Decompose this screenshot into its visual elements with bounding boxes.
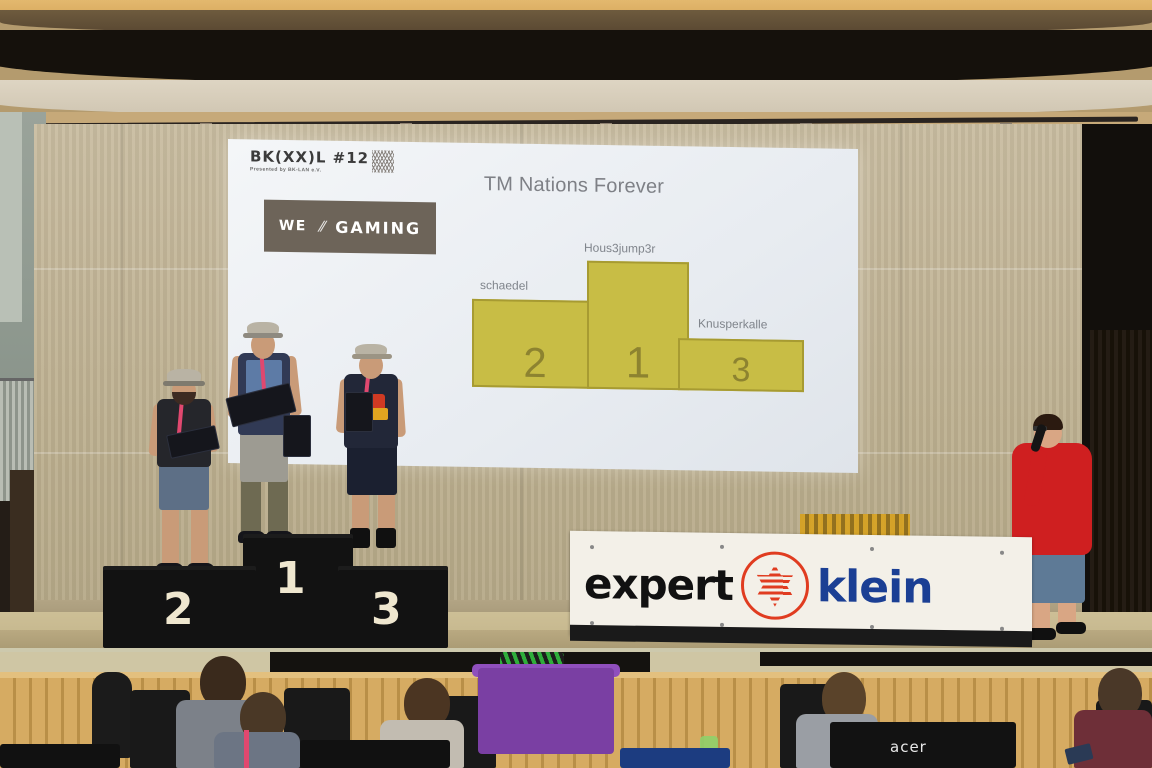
projected-slide: BK(XX)L #12 Presented by BK-LAN e.V. TM … [228, 139, 858, 473]
leg [191, 507, 208, 569]
shorts [159, 462, 209, 510]
sponsor-logo: WE // GAMING [264, 200, 436, 255]
cap-brim [352, 354, 392, 359]
event-logo: BK(XX)L #12 Presented by BK-LAN e.V. [250, 147, 369, 174]
podium-name-third: Knusperkalle [698, 316, 767, 331]
prize-box [283, 415, 311, 457]
cap-brim [243, 333, 283, 338]
event-logo-subtext: Presented by BK-LAN e.V. [250, 166, 369, 174]
shoe [1056, 622, 1086, 634]
hall-dark-strip [760, 652, 1152, 666]
equipment-case [620, 748, 730, 768]
monitor-brand-label: acer [890, 738, 960, 756]
banner-word-expert: expert [584, 558, 733, 609]
trophy-row [800, 514, 910, 536]
podium-bar-third: 3 [678, 338, 804, 392]
right-wall-panel [1090, 330, 1152, 630]
sponsor-logo-word2: GAMING [335, 217, 421, 237]
podium-bar-label-second: 2 [523, 342, 546, 386]
trousers [240, 430, 288, 482]
sponsor-logo-word1: WE [279, 218, 307, 234]
slide-title: TM Nations Forever [424, 172, 724, 200]
sock [376, 528, 396, 548]
cap-brim [163, 381, 205, 386]
prize-box [345, 392, 373, 432]
podium-bar-second: 2 [472, 299, 598, 389]
leg [162, 507, 179, 569]
star-icon [741, 551, 809, 620]
curtain-fold [120, 124, 123, 634]
storage-crate [478, 668, 614, 754]
banner-word-klein: klein [817, 561, 933, 614]
podium-name-first: Hous3jump3r [584, 241, 655, 256]
podium-number-second: 2 [163, 588, 194, 632]
sponsor-banner: expert klein [570, 531, 1032, 641]
podium-bar-first: 1 [587, 261, 689, 391]
podium-chart: schaedel Hous3jump3r Knusperkalle 2 1 3 [466, 259, 806, 424]
lanyard [244, 730, 249, 768]
left-wall-upper [0, 112, 22, 322]
podium-number-first: 1 [275, 557, 306, 601]
podium-number-third: 3 [371, 588, 402, 632]
sock [350, 528, 370, 548]
audience-person-body [214, 732, 300, 768]
shorts [347, 443, 397, 495]
leg [241, 474, 261, 536]
event-logo-text: BK(XX)L #12 [250, 147, 369, 167]
ceiling-band-black [0, 30, 1152, 86]
podium-bar-label-third: 3 [732, 353, 751, 389]
monitor-back [0, 744, 120, 768]
leg [268, 474, 288, 536]
monitor-back [300, 740, 450, 768]
podium-name-second: schaedel [480, 278, 528, 293]
spider-web-icon [372, 150, 394, 172]
photo-scene: BK(XX)L #12 Presented by BK-LAN e.V. TM … [0, 0, 1152, 768]
podium-bar-label-first: 1 [626, 341, 650, 387]
sponsor-logo-separator: // [316, 218, 326, 235]
